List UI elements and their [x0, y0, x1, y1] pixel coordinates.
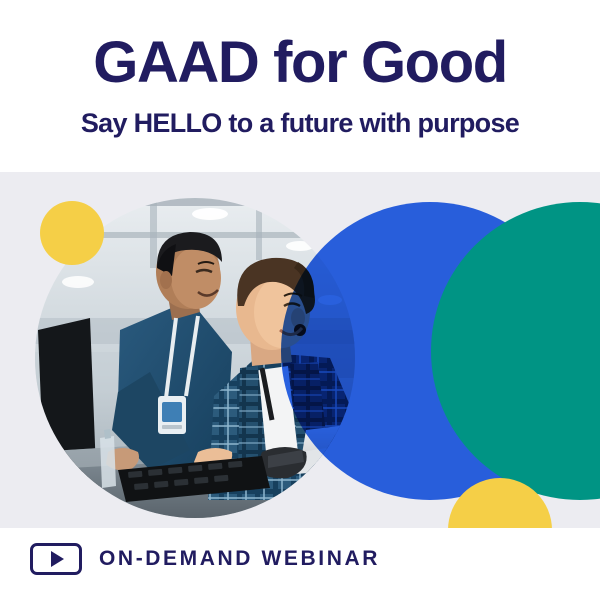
play-triangle [51, 551, 64, 567]
on-demand-webinar-tag[interactable]: ON-DEMAND WEBINAR [30, 543, 380, 575]
header: GAAD for Good Say HELLO to a future with… [0, 0, 600, 172]
play-icon[interactable] [30, 543, 82, 575]
promo-graphic: GAAD for Good Say HELLO to a future with… [0, 0, 600, 600]
graphics-band [0, 172, 600, 528]
page-subtitle: Say HELLO to a future with purpose [0, 106, 600, 140]
page-title: GAAD for Good [0, 32, 600, 94]
webinar-label: ON-DEMAND WEBINAR [99, 547, 380, 571]
